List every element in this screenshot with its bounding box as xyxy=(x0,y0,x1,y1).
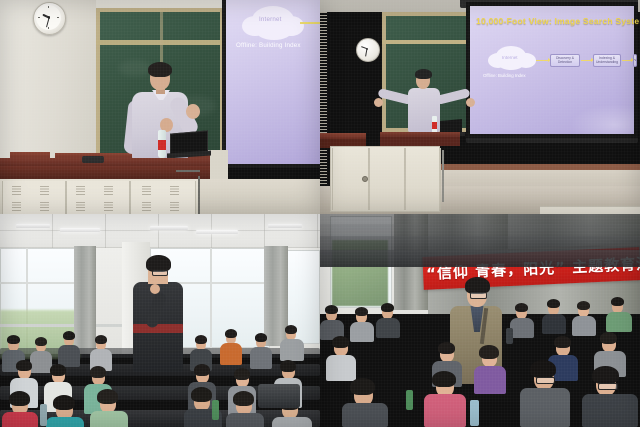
cabinet-vent xyxy=(142,202,151,211)
desk-row xyxy=(320,224,640,236)
cabinet-vent xyxy=(12,186,21,195)
student-hair xyxy=(554,336,571,348)
cabinet-vent xyxy=(142,186,151,195)
cabinet-vent xyxy=(76,186,85,195)
cabinet-vent xyxy=(40,202,49,211)
wall-clock xyxy=(356,38,380,62)
student-hair xyxy=(515,303,528,312)
student-body xyxy=(520,388,570,427)
student-hair xyxy=(355,307,368,316)
cabinet-vent xyxy=(320,36,327,54)
speaker-right-hand xyxy=(466,98,475,107)
student-body xyxy=(376,318,400,338)
slide-cloud-label: Internet xyxy=(259,16,282,23)
clock-tick xyxy=(48,27,49,29)
student-body xyxy=(220,343,242,365)
window-mullion xyxy=(210,248,212,348)
student-hair xyxy=(7,335,20,344)
flow-arrow xyxy=(581,60,591,61)
panel-top-right: 10,000-Foot View: Image Search System In… xyxy=(320,0,640,214)
slide-subtitle: Offline: Building Index xyxy=(483,73,526,78)
student-hair xyxy=(35,337,47,346)
student-hair xyxy=(194,364,210,376)
eyeglasses-icon xyxy=(598,383,618,390)
cabinet-vent xyxy=(170,202,179,211)
flow-arrow xyxy=(536,60,548,61)
screen-bottom-bar xyxy=(466,138,638,143)
cabinet-vent xyxy=(320,54,327,72)
student-body xyxy=(226,413,264,427)
clock-tick xyxy=(57,17,59,18)
power-cable xyxy=(176,170,200,172)
cabinet-vent xyxy=(320,162,327,180)
student-hair xyxy=(530,360,556,378)
clock-tick xyxy=(48,6,49,8)
student-hair xyxy=(438,342,455,354)
speaker-hair xyxy=(148,62,172,77)
student-body xyxy=(46,417,84,427)
flow-box-discovery: Discovery & Detection xyxy=(550,54,580,67)
power-cable xyxy=(198,176,200,214)
student-hair xyxy=(63,331,75,340)
slide-subtitle: Offline: Building Index xyxy=(236,42,301,49)
podium-face xyxy=(380,137,460,146)
desk-row xyxy=(320,250,640,267)
window-mullion xyxy=(0,282,78,284)
speaker-hair xyxy=(415,69,432,79)
water-bottle xyxy=(470,400,479,426)
panel-bottom-left xyxy=(0,214,320,427)
student-body xyxy=(280,339,304,361)
student-hair xyxy=(9,391,30,406)
student-hair xyxy=(611,297,624,306)
student-hair xyxy=(97,389,118,404)
student-body xyxy=(342,403,388,427)
flow-box-serving: Serving xyxy=(633,54,637,67)
student-hair xyxy=(53,395,75,410)
power-cable xyxy=(442,150,444,202)
cloud-shape xyxy=(256,22,292,40)
student-body xyxy=(90,411,128,427)
clock-tick xyxy=(38,17,40,18)
cabinet-knob xyxy=(362,176,368,182)
flow-box-indexing: Indexing & Understanding xyxy=(593,54,621,67)
slide-title: 10,000-Foot View: Image Search System xyxy=(476,16,628,26)
speaker-left-hand xyxy=(374,98,383,107)
student-hair xyxy=(332,336,349,348)
eyeglasses-icon xyxy=(536,377,555,384)
clock-center-pin xyxy=(366,48,368,50)
student-body xyxy=(350,322,374,342)
thermos xyxy=(506,328,513,344)
flow-arrow xyxy=(622,60,631,61)
cabinet-door xyxy=(130,181,196,214)
student-hair xyxy=(255,333,267,342)
ceiling-light xyxy=(196,230,238,234)
student-hair xyxy=(350,378,375,395)
student-hair xyxy=(90,366,106,378)
student-hair xyxy=(381,303,394,312)
student-hair xyxy=(577,301,590,310)
student-body xyxy=(510,318,534,338)
speaker-right-hand xyxy=(186,104,200,119)
standing-student-hand xyxy=(150,284,160,294)
cabinet-vent xyxy=(320,72,327,90)
student-hair xyxy=(195,335,207,344)
student-body xyxy=(606,312,632,332)
student-body xyxy=(572,316,596,336)
jacket-stripe xyxy=(133,324,183,333)
chalkboard-rail xyxy=(382,40,474,44)
cabinet-door xyxy=(368,148,406,210)
student-hair xyxy=(225,329,237,338)
floor-strip xyxy=(198,179,320,214)
student-hair xyxy=(432,371,456,387)
panel-bottom-right: “信仰 青春，阳光” 主题教育活 xyxy=(320,214,640,427)
student-body xyxy=(542,314,566,334)
podium-face xyxy=(0,166,210,180)
seat-back xyxy=(258,384,300,408)
student-hair xyxy=(95,335,107,344)
student-body xyxy=(272,417,312,427)
cabinet-vent xyxy=(104,202,113,211)
student-hair xyxy=(600,332,617,344)
ceiling-light xyxy=(268,224,302,228)
chalk-smudge xyxy=(118,60,152,76)
screen-glare xyxy=(570,104,634,134)
student-hair xyxy=(280,360,296,372)
student-hair xyxy=(50,364,66,376)
cabinet-vent xyxy=(320,90,327,108)
ceiling-light xyxy=(16,224,50,228)
cabinet-vent xyxy=(40,186,49,195)
water-bottle xyxy=(40,404,47,426)
cabinet-vent xyxy=(320,108,327,126)
student-hair xyxy=(479,345,499,359)
student-body xyxy=(250,347,272,369)
ceiling-tile-grid xyxy=(0,214,320,248)
cabinet-vent xyxy=(12,202,21,211)
ceiling-light xyxy=(60,228,100,232)
cabinet-vent xyxy=(170,186,179,195)
student-body xyxy=(326,355,356,381)
student-hair xyxy=(233,391,254,406)
eyeglasses-icon xyxy=(470,292,487,299)
water-bottle xyxy=(212,400,219,420)
window-curtain xyxy=(74,246,96,354)
student-body xyxy=(582,394,638,427)
student-hair xyxy=(547,299,560,308)
photo-collage: Internet Offline: Building Index xyxy=(0,0,640,427)
window-rail xyxy=(0,324,122,327)
cabinet-vent xyxy=(76,202,85,211)
slide-arrow-line xyxy=(300,22,320,24)
cabinet-vent xyxy=(104,186,113,195)
student-hair xyxy=(325,305,338,314)
student-hair xyxy=(285,325,297,334)
student-hair xyxy=(234,368,250,380)
ceiling-light xyxy=(150,226,188,230)
eyeglasses-icon xyxy=(152,270,168,276)
student-hair xyxy=(592,366,619,384)
desk-row xyxy=(320,214,640,224)
student-hair xyxy=(16,360,32,371)
desk-object xyxy=(82,156,104,163)
student-hair xyxy=(191,387,212,402)
student-body xyxy=(474,366,506,394)
student-body xyxy=(424,394,466,427)
front-row-desk xyxy=(540,206,640,214)
cabinet-vent xyxy=(320,18,327,36)
desk-row xyxy=(320,236,640,250)
panel-top-left: Internet Offline: Building Index xyxy=(0,0,320,214)
bottle-label xyxy=(432,122,437,129)
student-body xyxy=(2,412,38,427)
slide-cloud-label: Internet xyxy=(502,55,518,60)
cabinet-door xyxy=(404,148,441,210)
projection-screen: Internet Offline: Building Index xyxy=(226,0,320,164)
student-body xyxy=(30,351,52,373)
bottle-label xyxy=(158,140,166,150)
water-bottle xyxy=(406,390,413,410)
